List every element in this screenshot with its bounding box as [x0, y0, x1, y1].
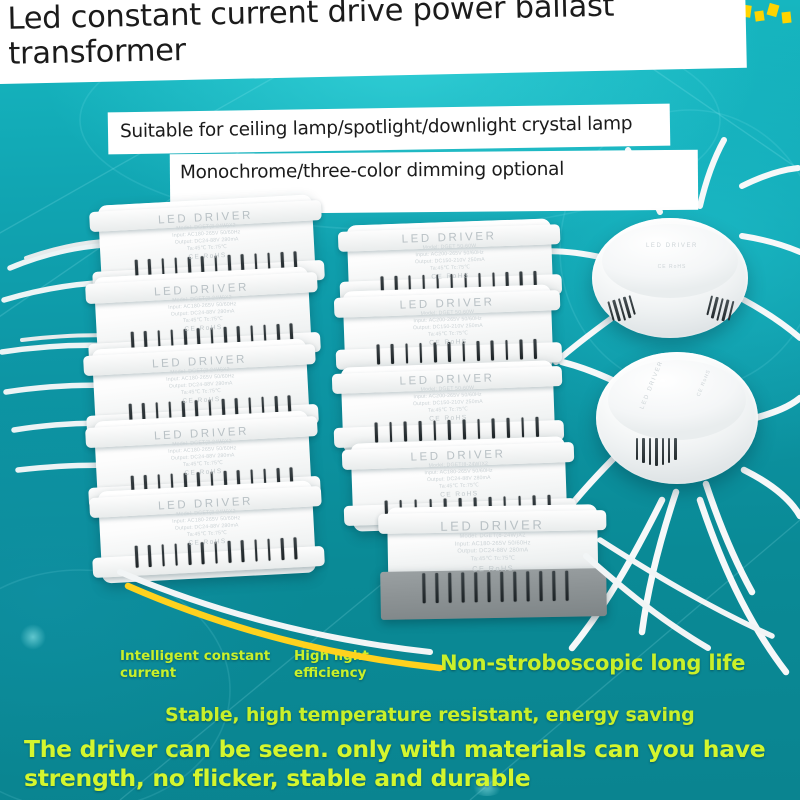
wire-harness-front: [0, 0, 800, 800]
product-image-canvas: LED DRIVER Model: DGET(8-24W)X2 Input: A…: [0, 0, 800, 800]
